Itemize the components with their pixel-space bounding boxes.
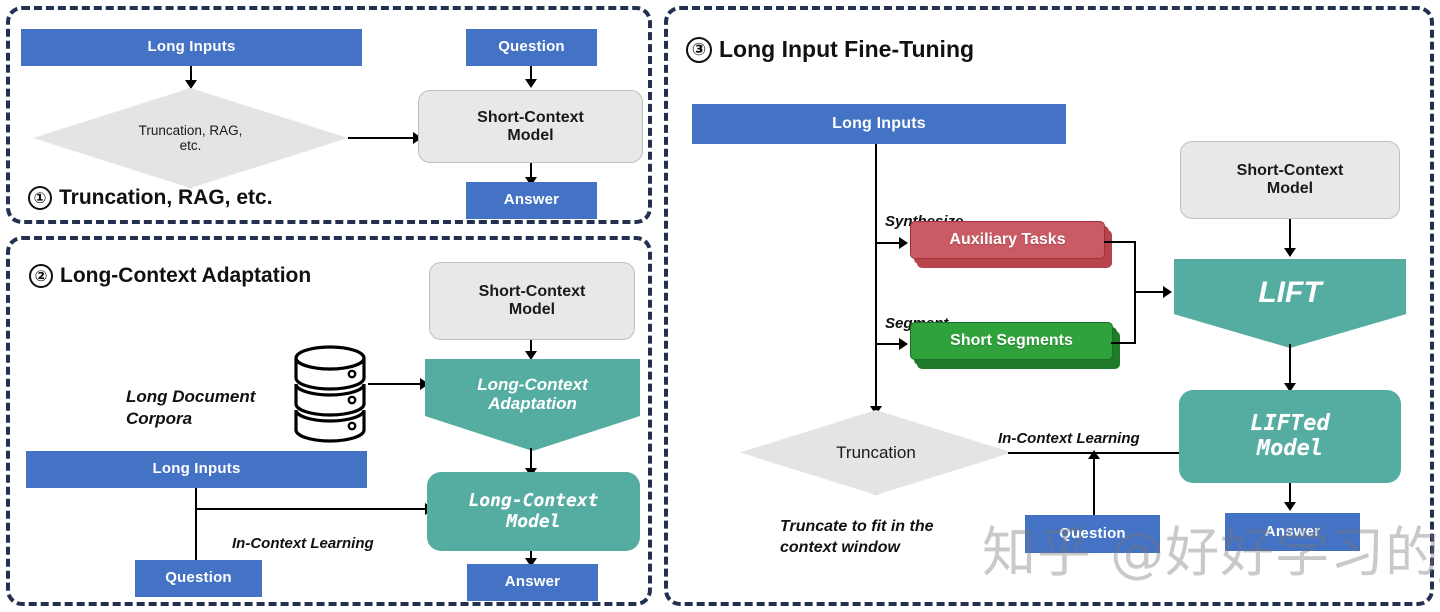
p2-icl-label: In-Context Learning [232, 515, 374, 553]
p3-arrow-scm-lift [1284, 248, 1296, 257]
p2-connector-adaptation-lcmodel [530, 448, 532, 470]
p3-auxiliary-tasks-label: Auxiliary Tasks [949, 231, 1065, 249]
p3-icl-label: In-Context Learning [998, 410, 1140, 448]
p1-arrow-question-model [525, 79, 537, 88]
p2-long-context-model-box: Long-Context Model [427, 472, 640, 551]
p1-long-inputs-box: Long Inputs [21, 29, 362, 66]
p1-connector-diamond-model [348, 137, 415, 139]
p3-short-context-model-label: Short-Context Model [1237, 162, 1344, 198]
p3-arrow-merge-lift [1163, 286, 1172, 298]
database-icon [290, 338, 370, 448]
p3-arrow-lifted-answer [1284, 502, 1296, 511]
p3-long-inputs-box: Long Inputs [692, 104, 1066, 144]
p3-header: ③ Long Input Fine-Tuning [686, 36, 974, 63]
p3-arrow-spine-seg [899, 338, 908, 350]
p3-merge-to-lift [1134, 291, 1165, 293]
p1-question-label: Question [498, 39, 565, 56]
p2-corpora-text: Long Document Corpora [126, 387, 255, 428]
p1-header: ① Truncation, RAG, etc. [28, 186, 273, 210]
p2-title: Long-Context Adaptation [60, 264, 311, 288]
p1-step-number: ① [28, 186, 52, 210]
p3-connector-scm-lift [1289, 219, 1291, 251]
p2-step-number: ② [29, 264, 53, 288]
panel-long-input-fine-tuning: ③ Long Input Fine-Tuning Long Inputs Syn… [664, 6, 1434, 606]
p3-lifted-model-box: LIFTed Model [1179, 390, 1401, 483]
panel-long-context-adaptation: ② Long-Context Adaptation Long Document … [6, 236, 652, 606]
diagram-canvas: Long Inputs Question Truncation, RAG, et… [0, 0, 1440, 612]
p2-answer-label: Answer [505, 574, 560, 591]
p3-lifted-model-label: LIFTed Model [1250, 412, 1329, 461]
p3-long-inputs-label: Long Inputs [832, 115, 926, 133]
p3-arrow-question-icl [1088, 450, 1100, 459]
p3-icl-text: In-Context Learning [998, 430, 1140, 447]
p3-connector-lift-lifted [1289, 344, 1291, 387]
p2-connector-inputs-down [195, 488, 197, 560]
p3-answer-label: Answer [1265, 524, 1320, 541]
p2-short-context-model-box: Short-Context Model [429, 262, 635, 340]
p2-question-label: Question [165, 570, 232, 587]
p1-short-context-model-box: Short-Context Model [418, 90, 643, 163]
p2-icl-text: In-Context Learning [232, 535, 374, 552]
p2-answer-box: Answer [467, 564, 598, 601]
p2-long-inputs-label: Long Inputs [152, 461, 240, 478]
p1-title: Truncation, RAG, etc. [59, 186, 273, 210]
p3-title: Long Input Fine-Tuning [719, 36, 974, 63]
p1-answer-label: Answer [504, 192, 559, 209]
panel-truncation-rag: Long Inputs Question Truncation, RAG, et… [6, 6, 652, 224]
p3-arrow-spine-aux [899, 237, 908, 249]
p2-long-inputs-box: Long Inputs [26, 451, 367, 488]
p2-long-context-model-label: Long-Context Model [468, 491, 598, 531]
p2-arrow-model-adaptation [525, 351, 537, 360]
p1-long-inputs-label: Long Inputs [147, 39, 235, 56]
p3-connector-question-icl [1093, 454, 1095, 516]
p3-question-label: Question [1059, 526, 1126, 543]
p3-truncate-note-text: Truncate to fit in the context window [780, 518, 933, 555]
p3-lift-label: LIFT [1258, 276, 1321, 310]
p3-lift-shape: LIFT [1174, 259, 1406, 348]
p3-short-segments-stack: Short Segments [910, 322, 1113, 360]
p3-question-box: Question [1025, 515, 1160, 553]
p3-short-segments-label: Short Segments [950, 332, 1073, 350]
p2-connector-icl [195, 508, 427, 510]
p3-spine [875, 144, 877, 410]
p1-short-context-model-label: Short-Context Model [477, 109, 584, 145]
p2-adaptation-label: Long-Context Adaptation [477, 375, 587, 413]
p3-truncate-note: Truncate to fit in the context window [780, 497, 933, 558]
p3-answer-box: Answer [1225, 513, 1360, 551]
p2-connector-db-adaptation [368, 383, 422, 385]
p1-question-box: Question [466, 29, 597, 66]
p3-auxiliary-tasks-stack: Auxiliary Tasks [910, 221, 1105, 259]
p1-truncation-diamond: Truncation, RAG, etc. [33, 88, 348, 188]
p1-diamond-label: Truncation, RAG, etc. [139, 123, 243, 153]
p1-answer-box: Answer [466, 182, 597, 219]
p2-corpora-label: Long Document Corpora [126, 364, 255, 429]
p3-step-number: ③ [686, 37, 712, 63]
p3-short-context-model-box: Short-Context Model [1180, 141, 1400, 219]
p2-question-box: Question [135, 560, 262, 597]
p2-short-context-model-label: Short-Context Model [479, 283, 586, 319]
p3-merge-bottom [1111, 342, 1136, 344]
p1-arrow-inputs-diamond [185, 80, 197, 89]
p2-header: ② Long-Context Adaptation [29, 264, 311, 288]
p3-truncation-diamond: Truncation [740, 410, 1012, 495]
p2-adaptation-shape: Long-Context Adaptation [425, 359, 640, 451]
p3-merge-top [1104, 241, 1136, 243]
p3-truncation-label: Truncation [836, 443, 916, 462]
